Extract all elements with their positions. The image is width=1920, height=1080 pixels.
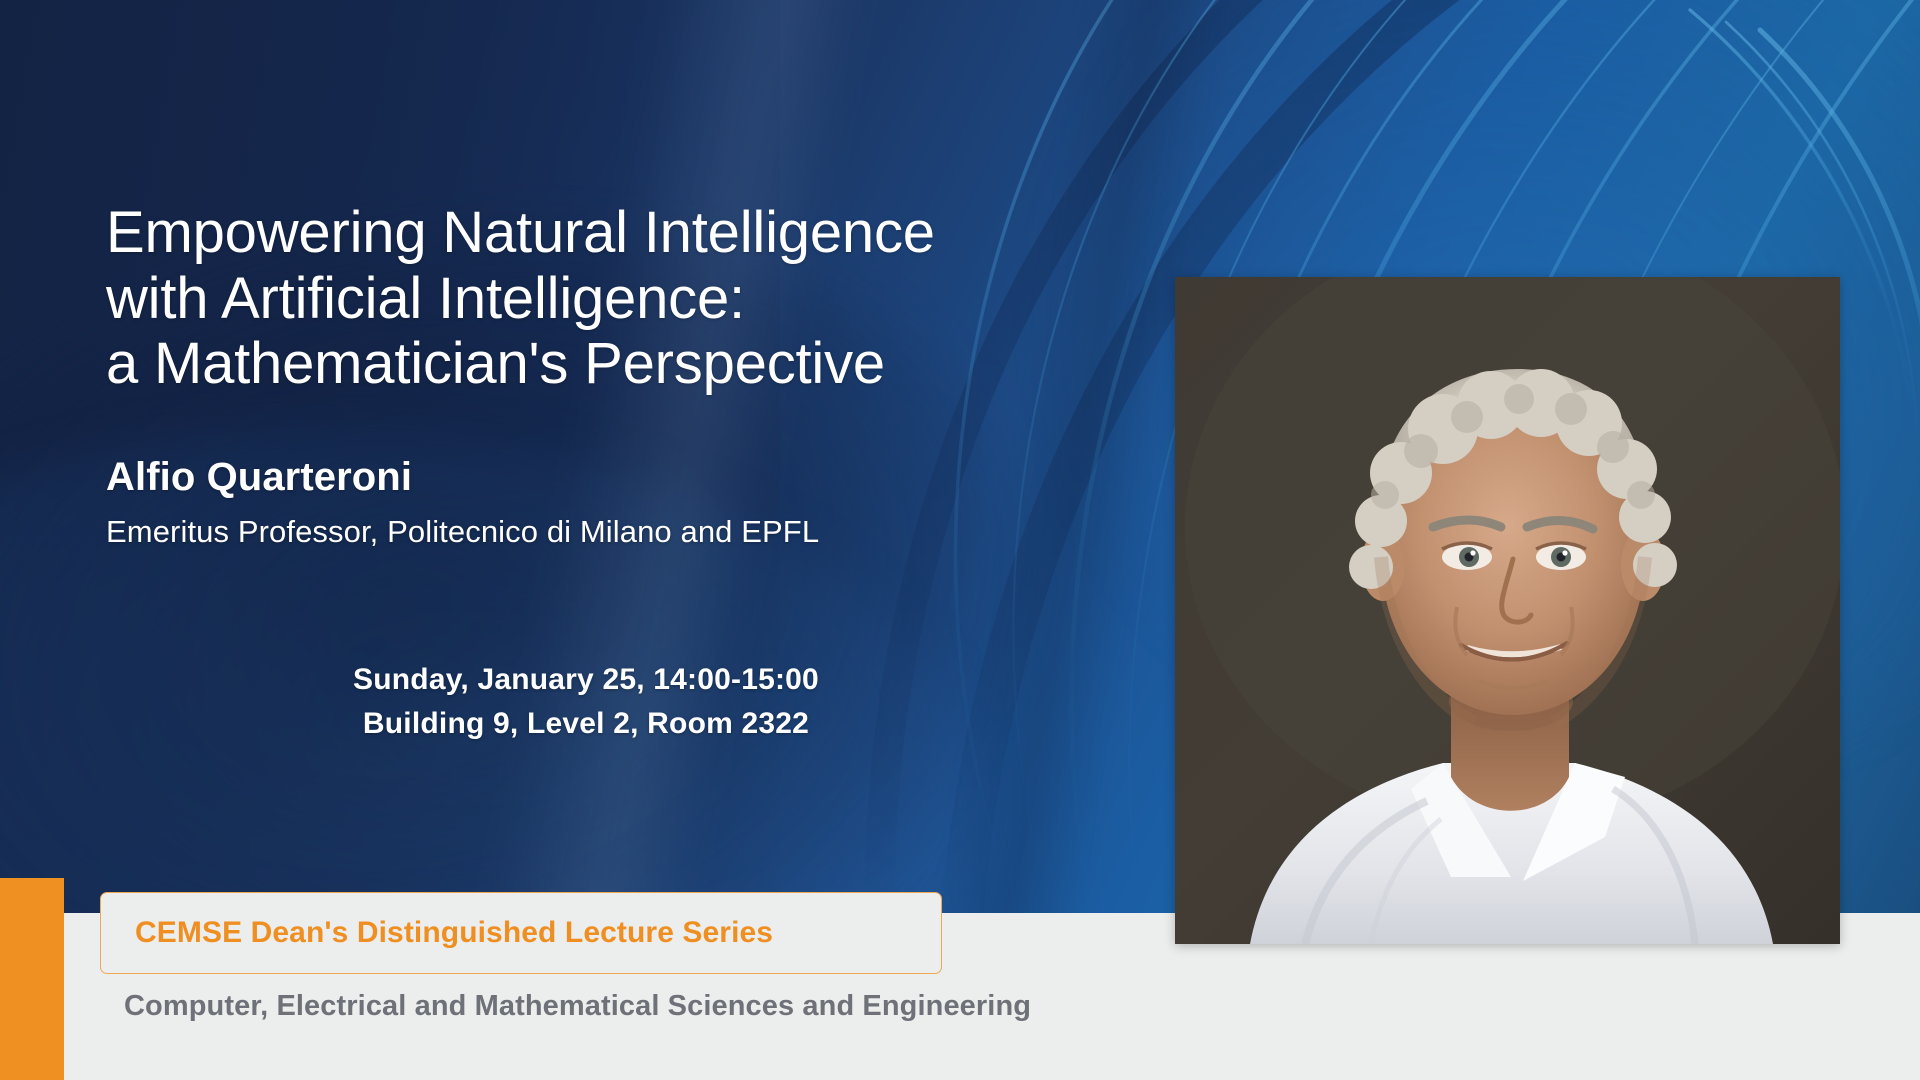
- department-label: Computer, Electrical and Mathematical Sc…: [124, 990, 1031, 1023]
- lecture-series-label: CEMSE Dean's Distinguished Lecture Serie…: [101, 916, 773, 950]
- orange-accent-bar: [0, 878, 64, 1080]
- event-location: Building 9, Level 2, Room 2322: [106, 702, 1066, 746]
- talk-title: Empowering Natural Intelligence with Art…: [106, 200, 1156, 397]
- speaker-photo: [1175, 277, 1840, 944]
- event-details: Sunday, January 25, 14:00-15:00 Building…: [106, 658, 1066, 747]
- lecture-series-badge: CEMSE Dean's Distinguished Lecture Serie…: [100, 892, 942, 974]
- poster-text-column: Empowering Natural Intelligence with Art…: [106, 200, 1156, 746]
- talk-title-line-3: a Mathematician's Perspective: [106, 331, 1156, 397]
- speaker-name: Alfio Quarteroni: [106, 455, 1156, 500]
- lecture-announcement-poster: Empowering Natural Intelligence with Art…: [0, 0, 1920, 1080]
- talk-title-line-1: Empowering Natural Intelligence: [106, 200, 1156, 266]
- speaker-affiliation: Emeritus Professor, Politecnico di Milan…: [106, 514, 1156, 550]
- event-datetime: Sunday, January 25, 14:00-15:00: [106, 658, 1066, 702]
- talk-title-line-2: with Artificial Intelligence:: [106, 266, 1156, 332]
